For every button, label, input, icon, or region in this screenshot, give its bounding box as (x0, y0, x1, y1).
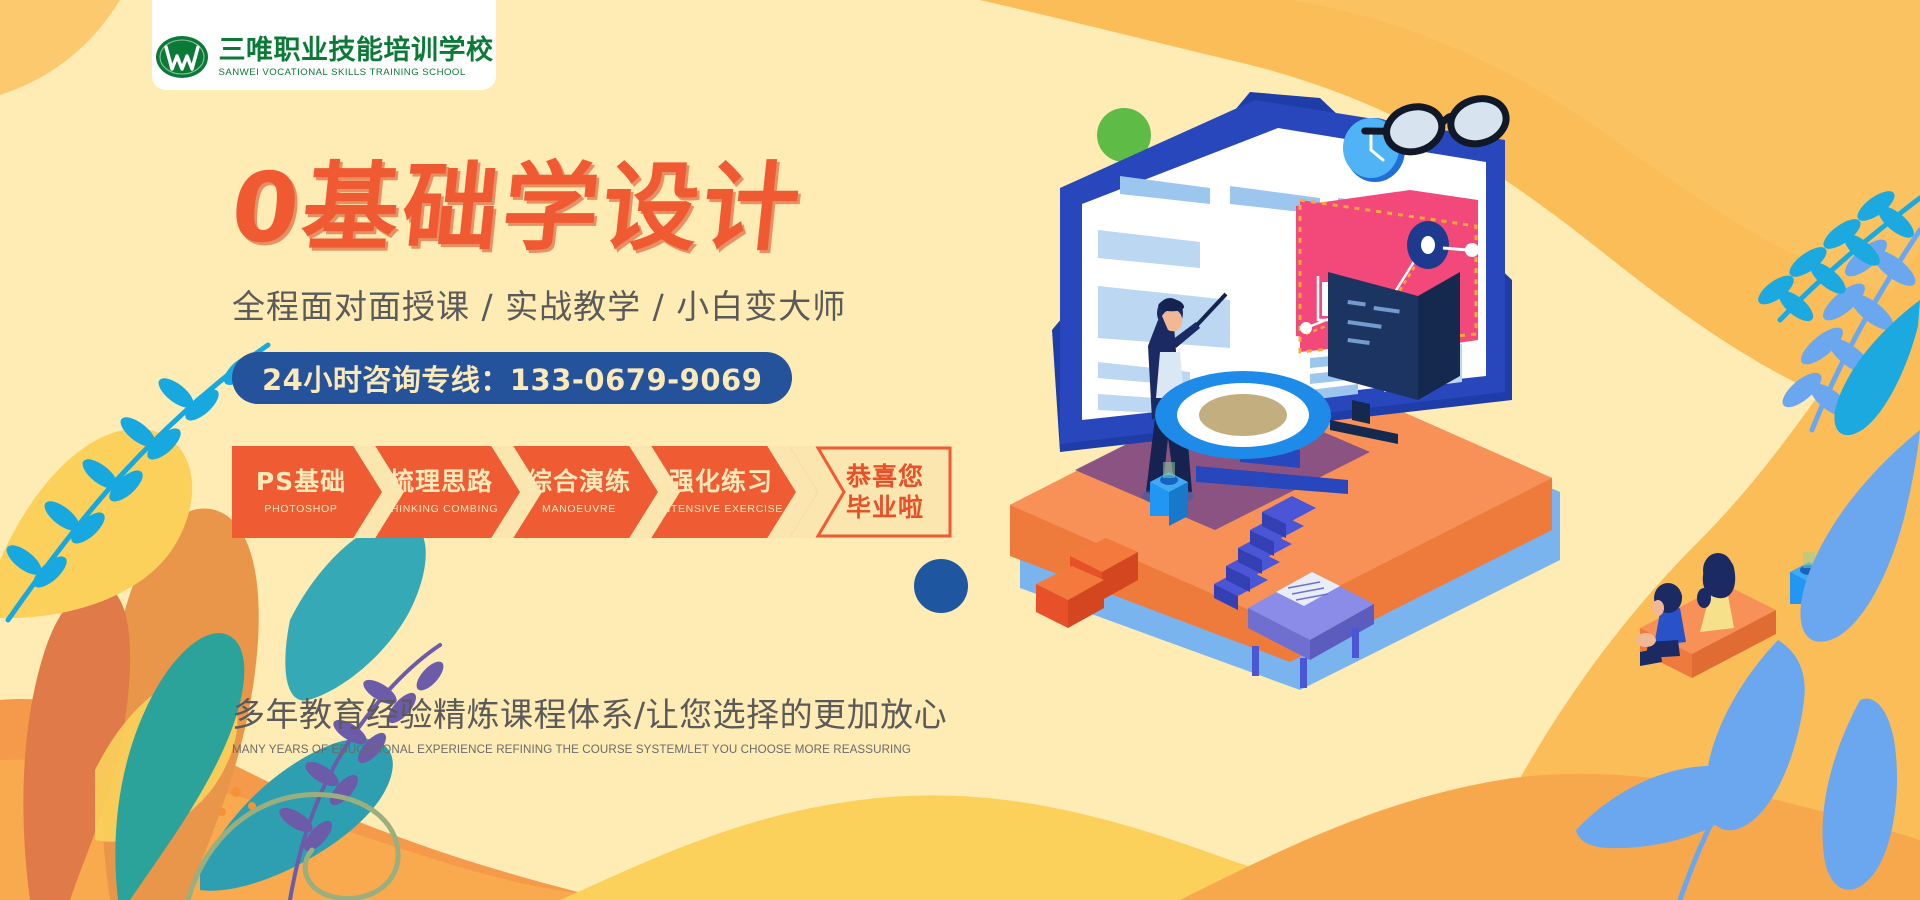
blue-circle-icon (914, 559, 968, 613)
step-item-4[interactable]: 恭喜您 毕业啦 (818, 446, 952, 538)
step-label-cn: PS基础 (256, 469, 346, 495)
tagline-cn: 多年教育经验精炼课程体系/让您选择的更加放心 (232, 688, 947, 736)
step-item-0[interactable]: PS基础 PHOTOSHOP (232, 446, 370, 538)
banner-canvas: 三唯职业技能培训学校 SANWEI VOCATIONAL SKILLS TRAI… (0, 0, 1920, 900)
hero-copy: 0基础学设计 全程面对面授课 / 实战教学 / 小白变大师 24小时咨询专线：1… (232, 160, 972, 538)
blue-target-ring-icon (1155, 371, 1331, 459)
step-item-3[interactable]: 强化练习 INTENSIVE EXERCISE (648, 446, 794, 538)
brand-name-en: SANWEI VOCATIONAL SKILLS TRAINING SCHOOL (219, 68, 494, 78)
step-label-cn: 梳理思路 (389, 469, 493, 495)
course-step-bar: PS基础 PHOTOSHOP 梳理思路 THINKING COMBING 综合演… (232, 446, 952, 538)
page-title: 0基础学设计 (227, 160, 977, 256)
step-label-en: PHOTOSHOP (264, 503, 337, 515)
tagline-en: MANY YEARS OF EDUCATIONAL EXPERIENCE REF… (232, 743, 947, 756)
step-item-1[interactable]: 梳理思路 THINKING COMBING (372, 446, 510, 538)
footer-tagline: 多年教育经验精炼课程体系/让您选择的更加放心 MANY YEARS OF EDU… (232, 688, 947, 756)
w-oval-logo-icon (155, 34, 209, 80)
step-label-en: MANOEUVRE (542, 503, 616, 515)
hotline-label: 24小时咨询专线：133-0679-9069 (262, 357, 762, 399)
blue-leaf-branch-icon (1576, 230, 1920, 900)
step-label-cn: 强化练习 (669, 469, 773, 495)
seated-people-icon (1636, 553, 1776, 678)
step-item-2[interactable]: 综合演练 MANOEUVRE (510, 446, 648, 538)
step-label-en: INTENSIVE EXERCISE (659, 503, 783, 515)
logo-card[interactable]: 三唯职业技能培训学校 SANWEI VOCATIONAL SKILLS TRAI… (152, 0, 496, 90)
step-label-cn: 综合演练 (527, 469, 631, 495)
step-label-cn-2: 毕业啦 (846, 492, 924, 523)
step-label-cn: 恭喜您 (846, 461, 924, 492)
hero-subtitle: 全程面对面授课 / 实战教学 / 小白变大师 (232, 280, 972, 328)
brand-name-cn: 三唯职业技能培训学校 (219, 37, 494, 64)
step-label-en: THINKING COMBING (384, 503, 498, 515)
hotline-pill[interactable]: 24小时咨询专线：133-0679-9069 (232, 352, 792, 404)
